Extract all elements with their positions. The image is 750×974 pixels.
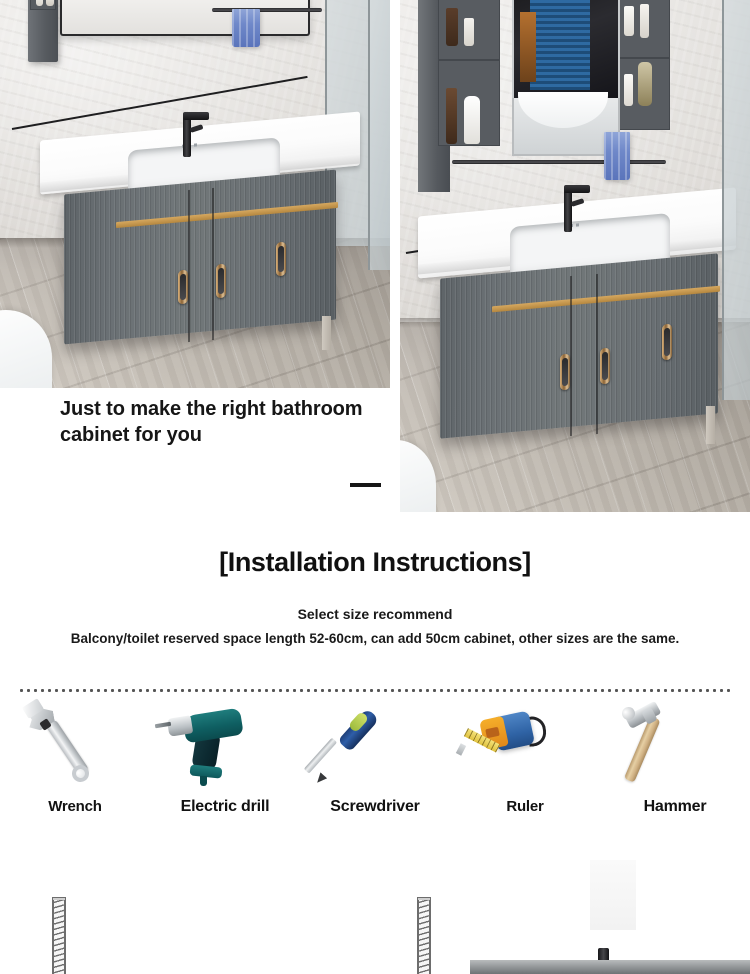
screwdriver-icon	[300, 700, 450, 792]
dotted-divider	[18, 689, 732, 692]
tool-item-wrench: Wrench	[0, 700, 150, 825]
size-recommend-note: Balcony/toilet reserved space length 52-…	[0, 631, 750, 646]
wrench-icon	[0, 700, 150, 792]
vanity-unit	[418, 192, 736, 452]
blue-towel	[232, 9, 260, 47]
cabinet-body	[64, 170, 336, 345]
electric-drill-icon	[150, 700, 300, 792]
product-detail-page: Just to make the right bathroom cabinet …	[0, 0, 750, 974]
hammer-icon	[600, 700, 750, 792]
shelf-bottle	[464, 18, 474, 46]
vanity-photo-left	[0, 0, 390, 388]
building-reflection	[520, 12, 536, 82]
cabinet-support-leg	[706, 406, 715, 444]
countertop-edge-diagram	[470, 960, 750, 974]
cabinet-handle[interactable]	[178, 270, 188, 305]
installation-instructions-title: [Installation Instructions]	[0, 548, 750, 578]
tool-item-electric-drill: Electric drill	[150, 700, 300, 825]
shower-glass	[722, 0, 750, 400]
page-headline: Just to make the right bathroom cabinet …	[60, 396, 405, 449]
tool-item-screwdriver: Screwdriver	[300, 700, 450, 825]
shower-glass	[368, 0, 390, 270]
tool-item-ruler: Ruler	[450, 700, 600, 825]
cabinet-support-leg	[322, 316, 331, 350]
cabinet-handle[interactable]	[216, 264, 226, 299]
blue-towel	[604, 132, 630, 180]
faucet-spout	[564, 185, 590, 193]
diagram-background-panel	[590, 860, 636, 930]
shelf-bottle	[36, 0, 43, 6]
shelf-bottle	[640, 4, 649, 38]
cabinet-body	[440, 253, 718, 438]
window-reflection	[530, 0, 590, 90]
shelf-bottle	[446, 8, 458, 46]
mirror-door[interactable]	[512, 0, 620, 100]
tool-label-hammer: Hammer	[600, 798, 750, 816]
size-recommend-subtitle: Select size recommend	[0, 606, 750, 622]
shelf-bottle	[624, 6, 634, 36]
door-seam	[570, 276, 572, 436]
tool-label-screwdriver: Screwdriver	[300, 798, 450, 816]
headline-underline-dash	[350, 483, 381, 487]
shelf-bottle	[446, 88, 457, 144]
installation-diagram-crop	[0, 860, 750, 974]
door-seam	[188, 190, 190, 342]
cabinet-handle[interactable]	[662, 324, 672, 361]
cabinet-ribbed-texture	[64, 170, 336, 345]
vanity-unit	[40, 120, 360, 350]
cabinet-handle[interactable]	[560, 354, 570, 391]
shelf-bottle	[624, 74, 633, 106]
shelf-bottle	[46, 0, 54, 6]
towel-bar	[212, 8, 322, 12]
tape-measure-icon	[450, 700, 600, 792]
tool-label-ruler: Ruler	[450, 798, 600, 815]
tool-item-hammer: Hammer	[600, 700, 750, 825]
towel-bar	[452, 160, 666, 164]
cabinet-handle[interactable]	[276, 242, 286, 277]
faucet-spout	[183, 112, 209, 120]
required-tools-row: Wrench Electric drill Screwdriver Ruler	[0, 700, 750, 825]
cabinet-ribbed-texture	[440, 253, 718, 438]
mirror-cabinet	[60, 0, 310, 36]
installation-instructions-section: [Installation Instructions] Select size …	[0, 548, 750, 646]
door-seam	[596, 274, 598, 434]
tool-label-wrench: Wrench	[0, 798, 150, 815]
vanity-photo-right	[400, 0, 750, 512]
shelf-bottle	[638, 62, 652, 106]
expansion-bolt	[52, 900, 66, 974]
expansion-bolt	[417, 900, 431, 974]
cabinet-handle[interactable]	[600, 348, 610, 385]
shelf-bottle	[464, 96, 480, 144]
door-seam	[212, 188, 214, 340]
tool-label-electric-drill: Electric drill	[150, 798, 300, 816]
